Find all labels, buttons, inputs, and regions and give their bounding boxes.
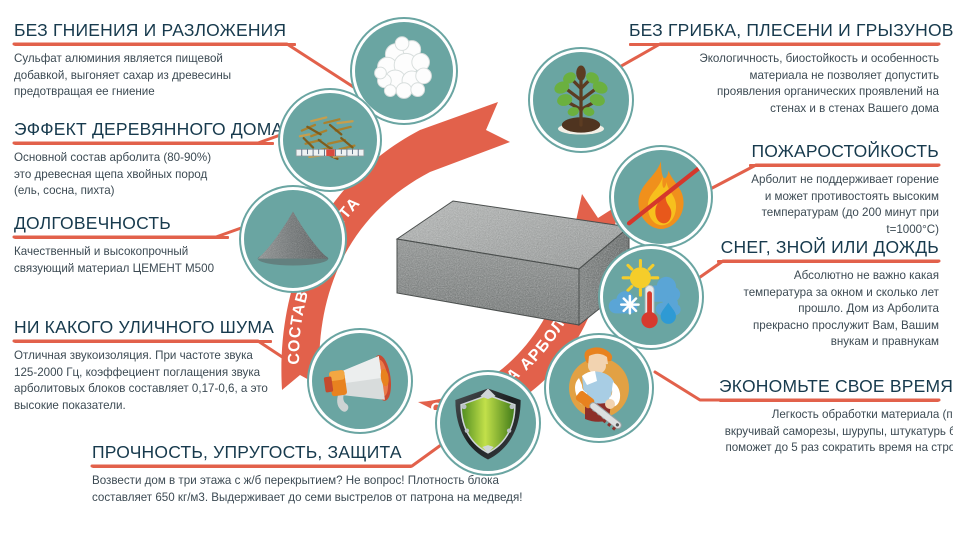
bubble-cement-pile: [244, 190, 342, 288]
feature-title: ПРОЧНОСТЬ, УПРУГОСТЬ, ЗАЩИТА: [92, 443, 412, 462]
feature-title: ЭФФЕКТ ДЕРЕВЯННОГО ДОМА: [14, 120, 274, 139]
title-underline: [14, 340, 272, 343]
feature-body: Сульфат алюминия является пищевой добавк…: [14, 51, 276, 100]
feature-fire-resistance: ПОЖАРОСТОЙКОСТЬ Арболит не поддерживает …: [749, 142, 939, 238]
worker-chainsaw-icon: [549, 338, 649, 438]
feature-body: Арболит не поддерживает горение и может …: [749, 172, 939, 238]
bubble-shield: [440, 375, 536, 471]
feature-weather-resistance: СНЕГ, ЗНОЙ ИЛИ ДОЖДЬ Абсолютно не важно …: [717, 238, 939, 351]
infographic-canvas: БЕЗ ГНИЕНИЯ И РАЗЛОЖЕНИЯ Сульфат алюмини…: [0, 0, 953, 537]
feature-body: Абсолютно не важно какая температура за …: [741, 268, 939, 350]
feature-title: ЭКОНОМЬТЕ СВОЕ ВРЕМЯ: [719, 377, 939, 396]
feature-no-rot: БЕЗ ГНИЕНИЯ И РАЗЛОЖЕНИЯ Сульфат алюмини…: [14, 21, 296, 101]
feature-body: Отличная звукоизоляция. При частоте звук…: [14, 348, 272, 414]
feature-body: Возвести дом в три этажа с ж/б перекрыти…: [92, 473, 532, 506]
cement-pile-icon: [244, 190, 342, 288]
feature-wooden-house-effect: ЭФФЕКТ ДЕРЕВЯННОГО ДОМА Основной состав …: [14, 120, 274, 200]
tree-icon: [533, 52, 629, 148]
wood-chips-icon: [283, 93, 377, 187]
white-crystals-icon: [355, 22, 453, 120]
title-underline: [629, 43, 939, 46]
arbolit-block-image: [393, 193, 633, 343]
feature-save-time: ЭКОНОМЬТЕ СВОЕ ВРЕМЯ Легкость обработки …: [719, 377, 939, 457]
bubble-tree: [533, 52, 629, 148]
feature-durability: ДОЛГОВЕЧНОСТЬ Качественный и высокопрочн…: [14, 214, 229, 277]
bubble-no-fire: [614, 150, 708, 244]
title-underline: [14, 236, 229, 239]
bubble-megaphone: [312, 333, 408, 429]
bubble-weather: [603, 249, 699, 345]
feature-title: БЕЗ ГРИБКА, ПЛЕСЕНИ И ГРЫЗУНОВ: [629, 21, 939, 40]
feature-body: Качественный и высокопрочный связующий м…: [14, 244, 219, 277]
feature-title: ПОЖАРОСТОЙКОСТЬ: [749, 142, 939, 161]
feature-strength-elasticity-protection: ПРОЧНОСТЬ, УПРУГОСТЬ, ЗАЩИТА Возвести до…: [92, 443, 412, 506]
feature-title: НИ КАКОГО УЛИЧНОГО ШУМА: [14, 318, 272, 337]
feature-title: БЕЗ ГНИЕНИЯ И РАЗЛОЖЕНИЯ: [14, 21, 296, 40]
bubble-white-crystals: [355, 22, 453, 120]
feature-body: Экологичность, биостойкость и особенност…: [683, 51, 939, 117]
title-underline: [92, 465, 412, 468]
megaphone-icon: [312, 333, 408, 429]
title-underline: [717, 260, 939, 263]
title-underline: [14, 142, 274, 145]
feature-body: Основной состав арболита (80-90%) это др…: [14, 150, 229, 199]
weather-icon: [603, 249, 699, 345]
feature-body: Легкость обработки материала (пили, заби…: [719, 407, 953, 456]
feature-no-street-noise: НИ КАКОГО УЛИЧНОГО ШУМА Отличная звукоиз…: [14, 318, 272, 414]
title-underline: [14, 43, 296, 46]
feature-title: СНЕГ, ЗНОЙ ИЛИ ДОЖДЬ: [717, 238, 939, 257]
no-fire-icon: [614, 150, 708, 244]
title-underline: [749, 164, 939, 167]
bubble-worker-chainsaw: [549, 338, 649, 438]
feature-title: ДОЛГОВЕЧНОСТЬ: [14, 214, 229, 233]
bubble-wood-chips: [283, 93, 377, 187]
title-underline: [719, 399, 939, 402]
shield-icon: [440, 375, 536, 471]
